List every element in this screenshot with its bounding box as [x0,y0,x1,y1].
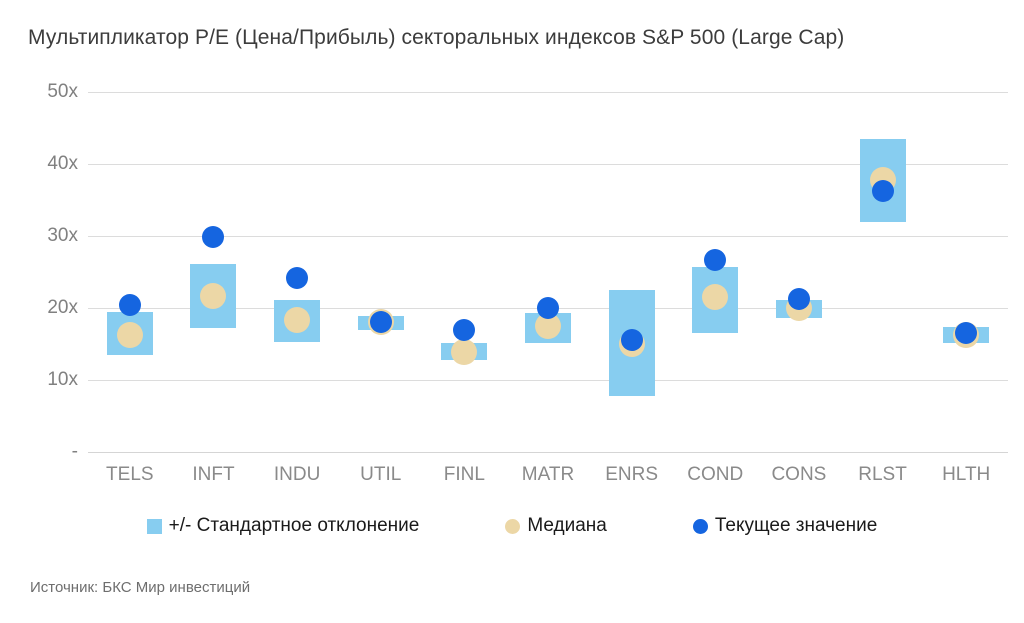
legend-item[interactable]: Медиана [505,515,607,537]
source-note: Источник: БКС Мир инвестиций [30,579,250,596]
x-axis-tick-label: INDU [274,464,320,486]
current-value-marker[interactable] [202,226,224,248]
y-axis-tick-label: 40x [18,153,78,175]
x-axis-tick-label: TELS [106,464,154,486]
legend-square-icon [147,519,162,534]
current-value-marker[interactable] [119,294,141,316]
x-axis-tick-label: HLTH [942,464,990,486]
gridline [88,236,1008,237]
chart-plot-area: 50x40x30x20x10x- TELSINFTINDUUTILFINLMAT… [0,0,1024,470]
current-value-marker[interactable] [704,249,726,271]
legend-label: Медиана [527,515,607,537]
gridline [88,380,1008,381]
legend-item[interactable]: Текущее значение [693,515,877,537]
median-marker[interactable] [451,339,477,365]
x-axis-tick-label: INFT [192,464,234,486]
current-value-marker[interactable] [286,267,308,289]
x-axis-tick-label: RLST [858,464,907,486]
gridline [88,452,1008,453]
legend-circle-icon [505,519,520,534]
y-axis-tick-label: - [18,441,78,463]
chart-legend: +/- Стандартное отклонениеМедианаТекущее… [0,515,1024,537]
legend-item[interactable]: +/- Стандартное отклонение [147,515,420,537]
legend-label: Текущее значение [715,515,877,537]
y-axis-tick-label: 50x [18,81,78,103]
median-marker[interactable] [117,322,143,348]
current-value-marker[interactable] [872,180,894,202]
y-axis-tick-label: 20x [18,297,78,319]
x-axis-tick-label: COND [687,464,743,486]
x-axis-tick-label: CONS [771,464,826,486]
gridline [88,92,1008,93]
legend-circle-icon [693,519,708,534]
current-value-marker[interactable] [621,329,643,351]
x-axis-tick-label: UTIL [360,464,401,486]
current-value-marker[interactable] [370,311,392,333]
legend-label: +/- Стандартное отклонение [169,515,420,537]
y-axis-tick-label: 30x [18,225,78,247]
x-axis-tick-label: ENRS [605,464,658,486]
x-axis-tick-label: FINL [444,464,485,486]
current-value-marker[interactable] [453,319,475,341]
current-value-marker[interactable] [537,297,559,319]
x-axis-tick-label: MATR [522,464,574,486]
y-axis-tick-label: 10x [18,369,78,391]
